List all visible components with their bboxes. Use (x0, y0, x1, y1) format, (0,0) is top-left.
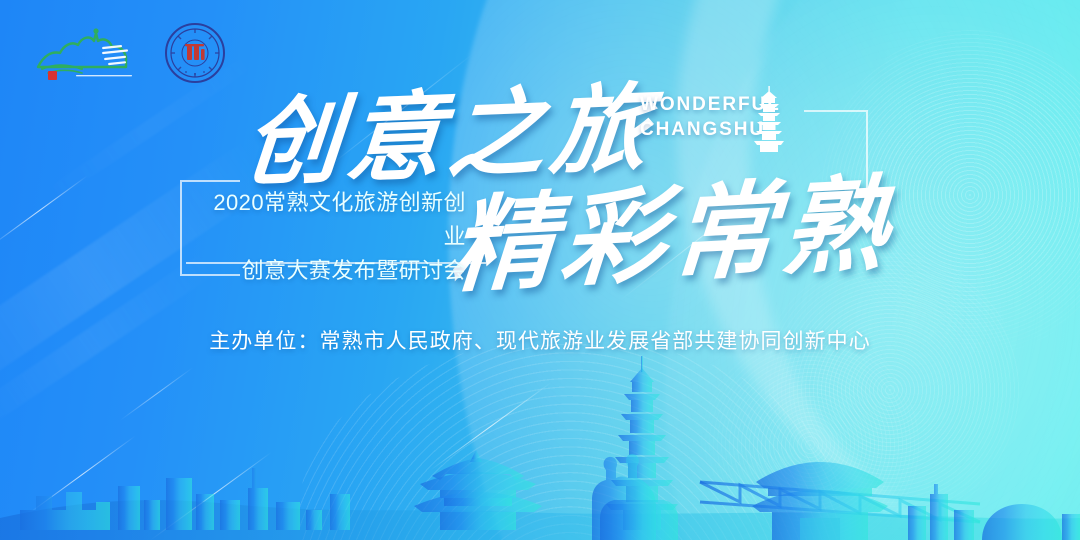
event-subtitle: 2020常熟文化旅游创新创业 创意大赛发布暨研讨会 (196, 186, 466, 288)
pagoda-icon (752, 86, 786, 152)
bracket-frame-right (804, 110, 868, 208)
event-banner: 创意之旅 精彩常熟 WONDERFUL CHANGSHU (0, 0, 1080, 540)
event-subtitle-line-1: 2020常熟文化旅游创新创业 (196, 186, 466, 254)
event-subtitle-line-2: 创意大赛发布暨研讨会 (196, 254, 466, 288)
vertical-welcome-text: 2020 WELCOME TO CHANGSHU (1074, 0, 1080, 6)
city-skyline-silhouette (0, 350, 1080, 540)
